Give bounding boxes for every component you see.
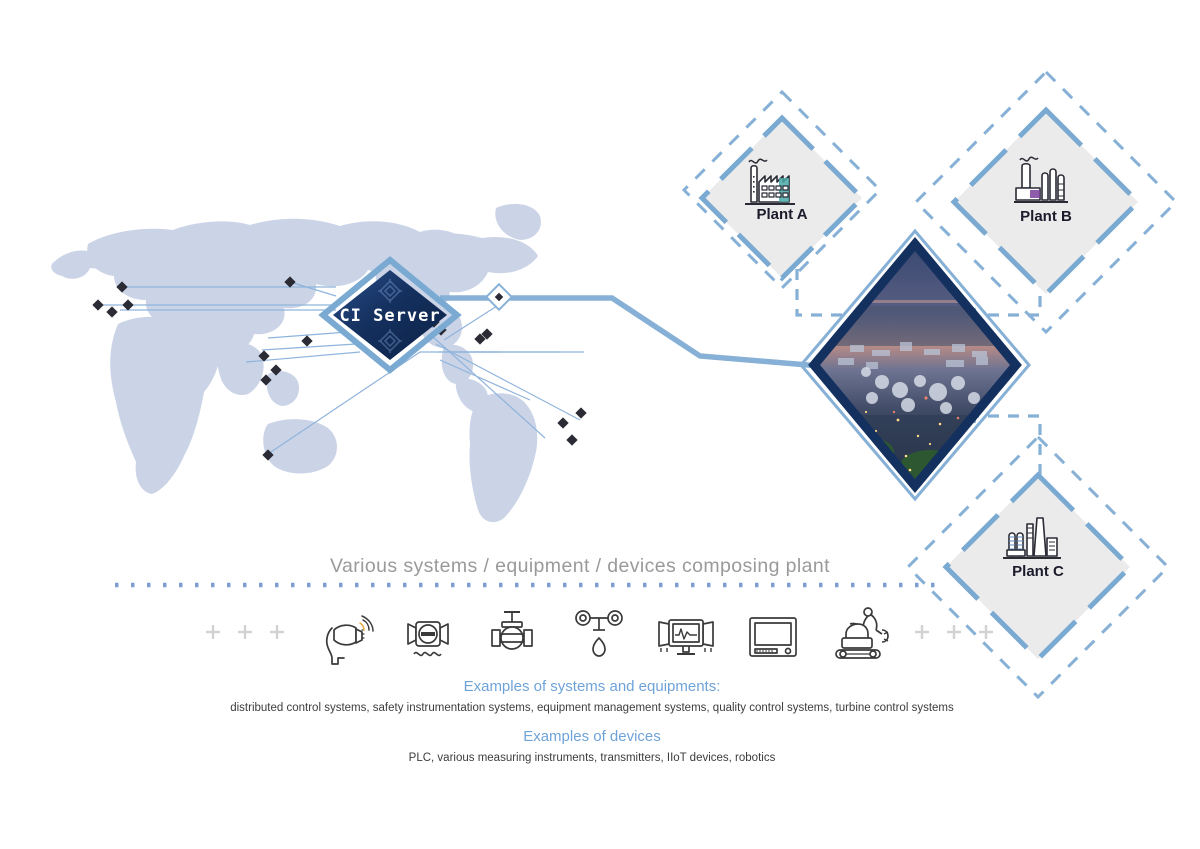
caption-1-body: distributed control systems, safety inst… <box>230 702 954 714</box>
caption-2-heading: Examples of devices <box>523 728 661 745</box>
infographic-canvas: Plant A Plant B <box>0 0 1200 849</box>
caption-1-heading: Examples of systems and equipments: <box>464 678 721 695</box>
caption-2-body: PLC, various measuring instruments, tran… <box>409 752 776 764</box>
captions-layer: Examples of systems and equipments: dist… <box>0 0 1200 849</box>
